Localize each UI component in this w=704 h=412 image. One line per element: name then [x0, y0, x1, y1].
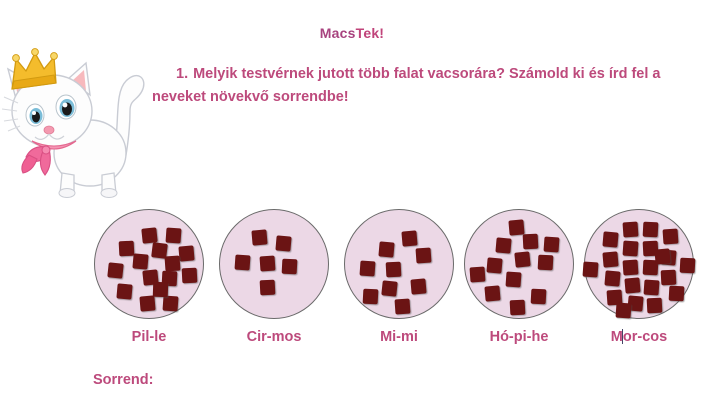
title-part-tek: Tek! [356, 25, 385, 41]
food-square [661, 270, 677, 286]
food-square [495, 237, 511, 253]
circle-hó-pi-he [464, 209, 574, 319]
food-square [486, 257, 502, 273]
circle-mi-mi [344, 209, 454, 319]
food-square [394, 298, 410, 314]
name-label-pil-le[interactable]: Pil-le [88, 329, 210, 345]
food-square [116, 283, 132, 299]
sorrend-label: Sorrend: [93, 372, 153, 388]
circle-group-5 [578, 205, 700, 330]
food-square [604, 270, 620, 286]
instruction-body: Melyik testvérnek jutott több falat vacs… [152, 66, 660, 105]
food-square [508, 219, 524, 235]
food-square [643, 222, 659, 238]
food-square [378, 241, 394, 257]
circle-mor-cos [584, 209, 694, 319]
circle-pil-le [94, 209, 204, 319]
name-label-cir-mos[interactable]: Cir-mos [213, 329, 335, 345]
food-square [582, 261, 598, 277]
food-square [164, 255, 180, 271]
crown-icon [12, 49, 57, 89]
food-square [622, 221, 638, 237]
food-square [251, 229, 267, 245]
instruction-number: 1. [176, 66, 188, 82]
food-square [622, 259, 638, 275]
name-label-hó-pi-he[interactable]: Hó-pi-he [458, 329, 580, 345]
food-square [538, 255, 554, 271]
food-square [141, 227, 157, 243]
food-square [359, 260, 375, 276]
food-square [505, 271, 521, 287]
name-label-mor-cos[interactable]: Mor-cos [578, 329, 700, 345]
food-square [259, 255, 275, 271]
circle-group-3 [338, 205, 460, 330]
food-square [415, 247, 431, 263]
food-square [107, 262, 123, 278]
circle-cir-mos [219, 209, 329, 319]
food-square [643, 279, 659, 295]
food-square [484, 285, 500, 301]
food-square [680, 258, 696, 274]
cat-eye-glint-right [63, 103, 68, 108]
cat-paw-back [101, 189, 117, 198]
food-square [602, 231, 618, 247]
food-square [662, 228, 678, 244]
worksheet-page: MacsTek! 1.Melyik testvérnek jutott több… [0, 0, 704, 412]
circle-group-1 [88, 205, 210, 330]
label-text-after-caret: or-cos [623, 329, 667, 345]
title-part-macs: Macs [320, 25, 356, 41]
food-square [165, 227, 181, 243]
food-square [654, 248, 670, 264]
quantity-circles-row [0, 205, 704, 330]
food-square [622, 240, 638, 256]
food-square [523, 234, 539, 250]
food-square [386, 262, 402, 278]
label-text-before-caret: M [611, 329, 623, 345]
circle-group-4 [458, 205, 580, 330]
circle-group-2 [213, 205, 335, 330]
food-square [514, 251, 530, 267]
food-square [282, 259, 298, 275]
food-square [602, 251, 618, 267]
food-square [401, 230, 417, 246]
food-square [275, 235, 291, 251]
cat-paw-front [59, 189, 75, 198]
food-square [363, 289, 379, 305]
food-square [153, 282, 169, 298]
cat-nose [44, 126, 54, 134]
food-square [162, 295, 178, 311]
name-label-mi-mi[interactable]: Mi-mi [338, 329, 460, 345]
food-square [234, 254, 250, 270]
food-square [139, 295, 155, 311]
food-square [381, 280, 397, 296]
food-square [669, 286, 685, 302]
food-square [178, 245, 194, 261]
name-labels-row: Pil-leCir-mosMi-miHó-pi-heMor-cos [0, 329, 704, 351]
food-square [647, 298, 663, 314]
food-square [410, 278, 426, 294]
food-square [531, 289, 547, 305]
food-square [132, 253, 148, 269]
food-square [510, 300, 526, 316]
food-square [182, 268, 198, 284]
food-square [260, 280, 276, 296]
food-square [615, 302, 631, 318]
cat-eye-glint-left [32, 111, 36, 115]
food-square [469, 266, 485, 282]
white-kitten-with-crown-illustration [2, 33, 152, 198]
instruction-text: 1.Melyik testvérnek jutott több falat va… [152, 63, 700, 109]
food-square [543, 236, 559, 252]
food-square [119, 241, 135, 257]
food-square [624, 277, 640, 293]
